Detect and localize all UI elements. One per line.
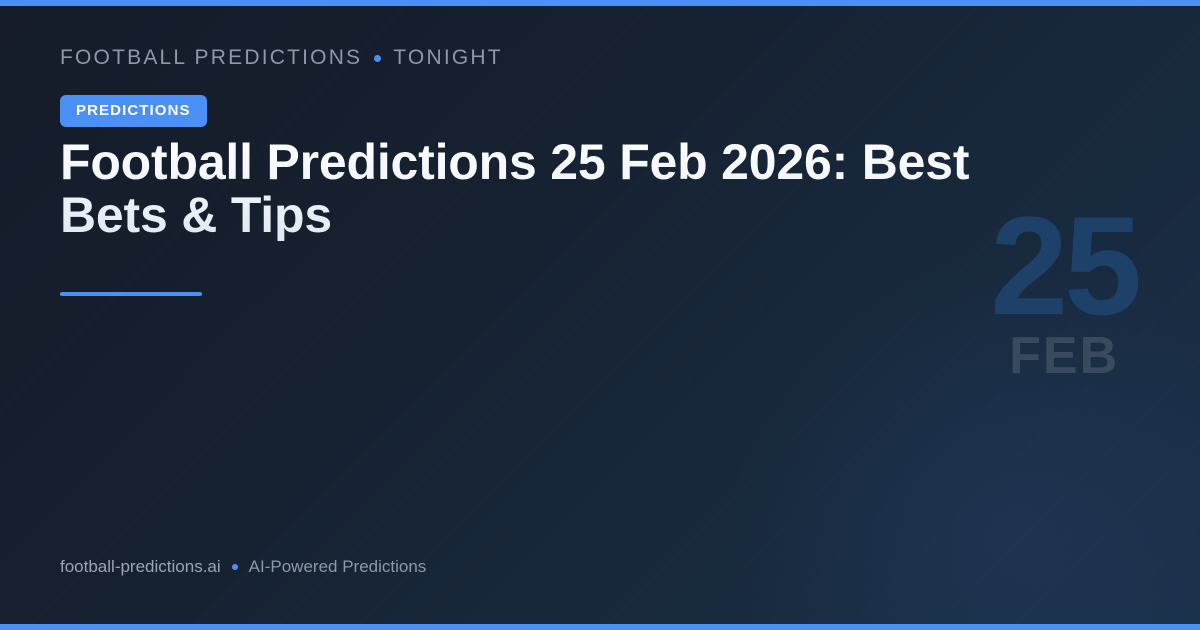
accent-underline [60,292,202,296]
footer-bullet-separator-icon [232,564,238,570]
bullet-separator-icon [374,55,381,62]
status-badge: PREDICTIONS [60,95,207,127]
content-column: FOOTBALL PREDICTIONS TONIGHT PREDICTIONS… [60,0,940,630]
footer: football-predictions.ai AI-Powered Predi… [60,557,426,577]
footer-tagline-label: AI-Powered Predictions [249,557,427,577]
page-title: Football Predictions 25 Feb 2026: Best B… [60,136,1060,241]
eyebrow-secondary-label: TONIGHT [393,46,503,70]
eyebrow-primary-label: FOOTBALL PREDICTIONS [60,46,362,70]
footer-site-label: football-predictions.ai [60,557,221,577]
eyebrow: FOOTBALL PREDICTIONS TONIGHT [60,46,503,70]
date-watermark-month: FEB [990,330,1138,382]
share-card: 25 FEB FOOTBALL PREDICTIONS TONIGHT PRED… [0,0,1200,630]
